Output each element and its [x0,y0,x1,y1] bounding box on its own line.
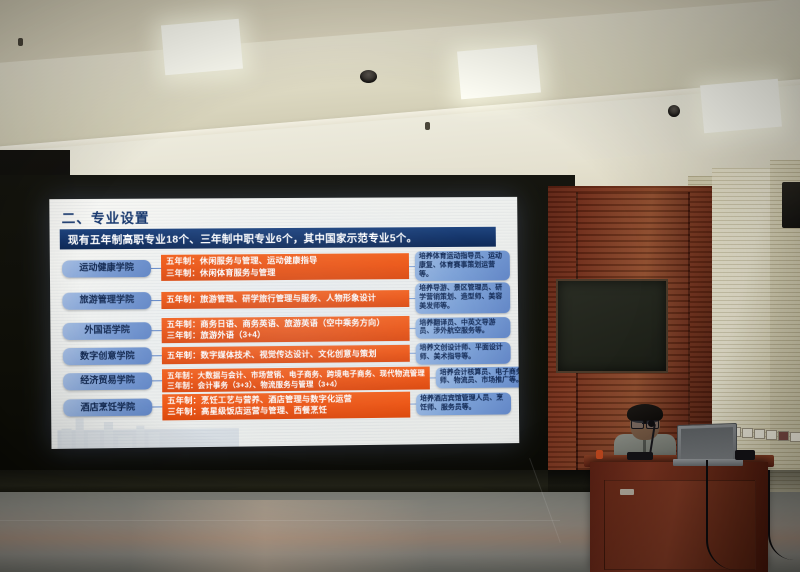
program-box: 五年制：烹饪工艺与营养、酒店管理与数字化运营 三年制：高星级饭店运营与管理、西餐… [162,392,410,420]
connector-line [152,407,162,408]
career-box[interactable]: 培养会计核算员、电子商务师、物流员、市场推广等。 [436,366,520,388]
ceiling-panel-light [700,79,782,134]
career-label: 培养导游、景区管理员、研学营销策划、造型师、美容美发师等。 [419,285,506,312]
slide-banner: 现有五年制高职专业18个、三年制中职专业6个，其中国家示范专业5个。 [60,227,496,250]
program-line: 三年制：休闲体育服务与管理 [166,267,404,279]
ceiling-speaker-icon [360,70,377,83]
career-label: 培养体育运动指导员、运动康复、体育赛事策划运营等。 [419,253,506,280]
career-box[interactable]: 培养文创设计师、平面设计师、美术指导等。 [416,342,511,364]
cable [706,460,752,570]
career-box[interactable]: 培养翻译员、中英文导游员、涉外航空服务等。 [415,317,510,339]
career-label: 培养翻译员、中英文导游员、涉外航空服务等。 [419,319,506,337]
department-label: 旅游管理学院 [80,296,135,306]
department-box[interactable]: 数字创意学院 [63,348,152,366]
table-row: 数字创意学院 五年制：数字媒体技术、视觉传达设计、文化创意与策划 培养文创设计师… [51,342,519,368]
program-box: 五年制：数字媒体技术、视觉传达设计、文化创意与策划 [162,345,410,364]
program-line: 三年制：高星级饭店运营与管理、西餐烹饪 [167,405,405,418]
wall-switch-plate[interactable] [766,430,777,440]
ceiling-panel-light [457,45,541,100]
wall-speaker-icon [782,182,800,228]
program-line: 五年制：休闲服务与管理、运动健康指导 [166,256,404,268]
connector-line [151,267,161,268]
podium-nameplate [620,489,634,495]
career-box[interactable]: 培养导游、景区管理员、研学营销策划、造型师、美容美发师等。 [415,283,510,314]
microphone-icon [648,420,655,427]
program-line: 五年制：旅游管理、研学旅行管理与服务、人物形象设计 [166,293,404,305]
program-table: 运动健康学院 五年制：休闲服务与管理、运动健康指导 三年制：休闲体育服务与管理 … [50,250,519,423]
department-label: 外国语学院 [84,326,130,336]
program-box: 五年制：旅游管理、研学旅行管理与服务、人物形象设计 [161,290,409,309]
wall-switch-plate[interactable] [790,432,800,442]
table-row: 旅游管理学院 五年制：旅游管理、研学旅行管理与服务、人物形象设计 培养导游、景区… [50,282,518,316]
career-label: 培养文创设计师、平面设计师、美术指导等。 [420,344,507,362]
desk-object [627,452,653,460]
table-row: 经济贸易学院 五年制：大数据与会计、市场营销、电子商务、跨境电子商务、现代物流管… [51,365,519,393]
projection-screen: 二、专业设置 现有五年制高职专业18个、三年制中职专业6个，其中国家示范专业5个… [49,197,519,449]
department-box[interactable]: 酒店烹饪学院 [63,399,152,417]
floor-light-reflection [130,500,430,572]
department-label: 经济贸易学院 [80,376,135,387]
ceiling-sensor-icon [425,122,430,130]
wall-mounted-dark-panel [556,279,668,373]
table-row: 外国语学院 五年制：商务日语、商务英语、旅游英语（空中乘务方向） 三年制：旅游外… [50,315,518,345]
presentation-slide: 二、专业设置 现有五年制高职专业18个、三年制中职专业6个，其中国家示范专业5个… [49,197,519,449]
career-label: 培养会计核算员、电子商务师、物流员、市场推广等。 [440,368,520,386]
program-line: 三年制：会计事务（3+3）、物流服务与管理（3+4） [167,378,425,390]
program-box: 五年制：商务日语、商务英语、旅游英语（空中乘务方向） 三年制：旅游外语（3+4） [162,315,410,343]
screenshot-root: 二、专业设置 现有五年制高职专业18个、三年制中职专业6个，其中国家示范专业5个… [0,0,800,572]
program-line: 五年制：数字媒体技术、视觉传达设计、文化创意与策划 [167,348,405,361]
wall-switch-plate[interactable] [742,428,753,438]
career-box[interactable]: 培养酒店宾馆管理人员、烹饪师、服务员等。 [416,393,511,415]
career-label: 培养酒店宾馆管理人员、烹饪师、服务员等。 [420,395,507,413]
department-box[interactable]: 运动健康学院 [62,260,151,278]
wall-switch-plate[interactable] [754,429,765,439]
ceiling-panel-light [161,19,243,76]
ceiling-sensor-icon [18,38,23,46]
slide-title: 二、专业设置 [62,207,150,228]
slide-banner-text: 现有五年制高职专业18个、三年制中职专业6个，其中国家示范专业5个。 [68,230,417,247]
department-box[interactable]: 外国语学院 [63,322,152,340]
desk-object [735,450,755,460]
department-label: 运动健康学院 [79,263,134,273]
career-box[interactable]: 培养体育运动指导员、运动康复、体育赛事策划运营等。 [415,251,510,282]
desk-indicator-light [596,450,603,459]
department-box[interactable]: 旅游管理学院 [62,292,151,310]
program-box: 五年制：大数据与会计、市场营销、电子商务、跨境电子商务、现代物流管理 三年制：会… [162,366,430,392]
department-box[interactable]: 经济贸易学院 [63,372,152,390]
program-line: 五年制：商务日语、商务英语、旅游英语（空中乘务方向） [167,317,405,329]
wall-switch-plate[interactable] [778,431,789,441]
connector-line [152,380,162,381]
department-label: 酒店烹饪学院 [80,402,135,413]
ceiling-speaker-icon [668,105,680,117]
table-row: 运动健康学院 五年制：休闲服务与管理、运动健康指导 三年制：休闲体育服务与管理 … [50,250,518,284]
cable [768,470,794,560]
connector-line [151,300,161,301]
floor-seam [0,520,560,521]
connector-line [152,355,162,356]
program-line: 三年制：旅游外语（3+4） [167,329,405,341]
connector-line [152,330,162,331]
program-box: 五年制：休闲服务与管理、运动健康指导 三年制：休闲体育服务与管理 [161,254,409,281]
department-label: 数字创意学院 [80,351,135,361]
table-row: 酒店烹饪学院 五年制：烹饪工艺与营养、酒店管理与数字化运营 三年制：高星级饭店运… [51,390,519,421]
